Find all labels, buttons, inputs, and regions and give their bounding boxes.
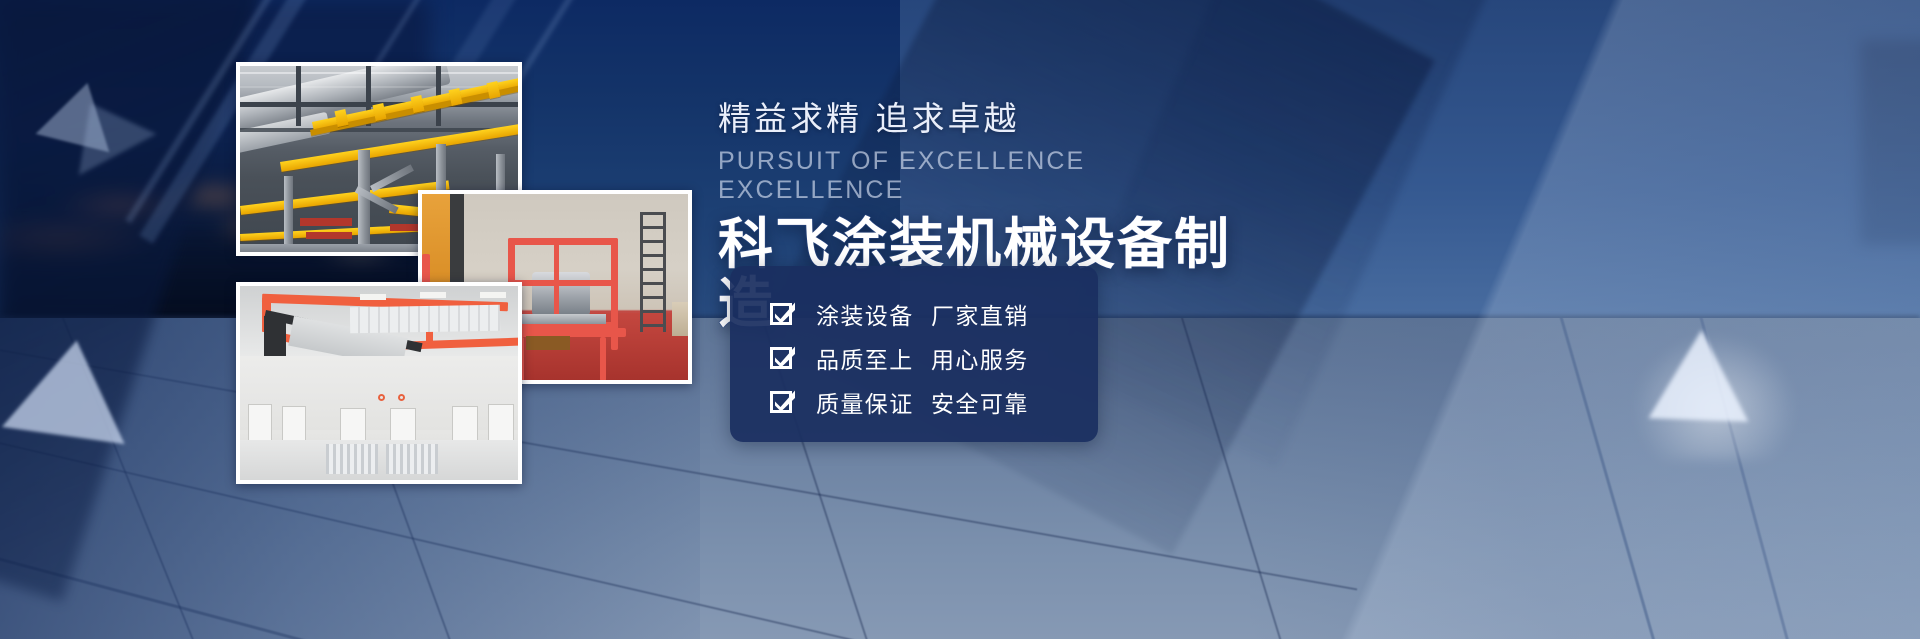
photo-spray-booth — [236, 282, 522, 484]
promo-banner: 精益求精 追求卓越 PURSUIT OF EXCELLENCE EXCELLEN… — [0, 0, 1920, 639]
feature-card: 涂装设备 厂家直销 品质至上 用心服务 — [730, 266, 1098, 442]
list-item: 质量保证 安全可靠 — [770, 380, 1098, 424]
feature-list: 涂装设备 厂家直销 品质至上 用心服务 — [730, 266, 1098, 424]
feature-label: 涂装设备 厂家直销 — [816, 297, 1029, 331]
decorative-triangle — [1648, 328, 1751, 421]
tagline-english: PURSUIT OF EXCELLENCE EXCELLENCE — [718, 147, 1278, 205]
checkbox-checked-icon — [770, 344, 798, 372]
checkbox-checked-icon — [770, 300, 798, 328]
list-item: 涂装设备 厂家直销 — [770, 292, 1098, 336]
feature-label: 质量保证 安全可靠 — [816, 385, 1029, 419]
tagline-chinese: 精益求精 追求卓越 — [718, 92, 1278, 140]
list-item: 品质至上 用心服务 — [770, 336, 1098, 380]
checkbox-checked-icon — [770, 388, 798, 416]
feature-label: 品质至上 用心服务 — [816, 341, 1029, 375]
decorative-triangle — [2, 332, 138, 444]
